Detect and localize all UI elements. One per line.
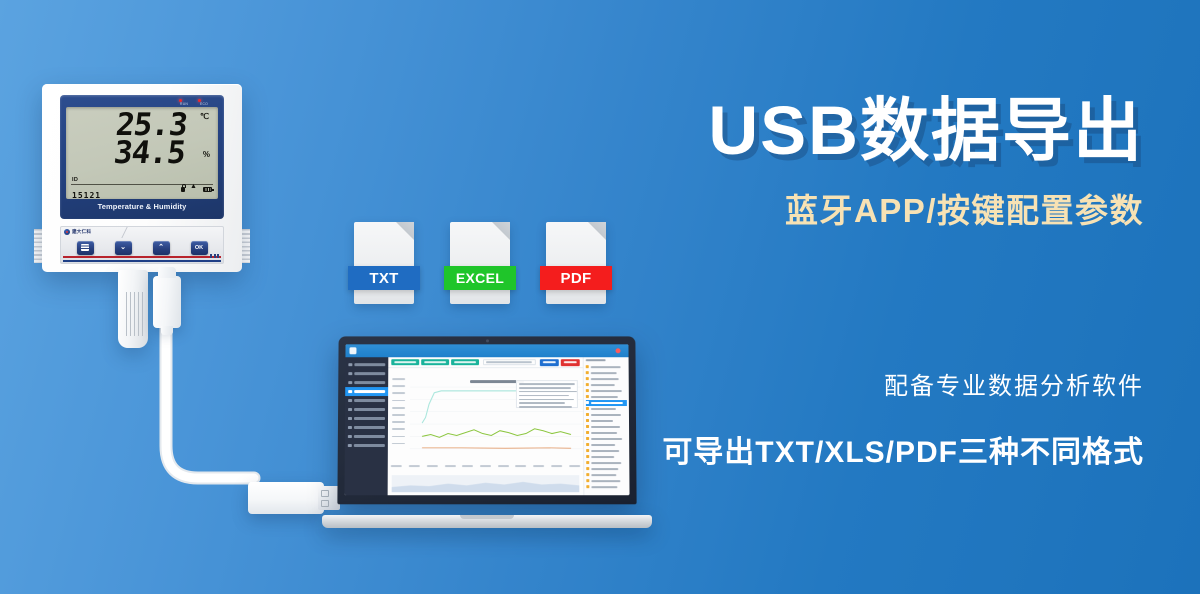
file-page [546, 222, 606, 304]
series-green [422, 429, 571, 438]
page-fold-icon [492, 222, 510, 240]
query-button[interactable] [540, 359, 559, 366]
sidebar-icon [348, 444, 352, 448]
folder-icon [586, 467, 589, 470]
chart-tooltip [516, 380, 578, 408]
device-brand: 建大仁科 [64, 229, 91, 235]
chart-range-slider[interactable] [392, 475, 580, 492]
lcd-status-bar: 15121 [72, 185, 213, 198]
dashboard-main [388, 357, 584, 495]
folder-icon [586, 371, 589, 374]
export-format-icons: TXT EXCEL PDF [348, 222, 612, 304]
down-button[interactable]: ⌄ [115, 241, 132, 255]
sidebar-item[interactable] [345, 441, 388, 450]
sidebar-icon [348, 435, 352, 439]
humidity-value: 34.5 [112, 138, 186, 169]
device-body: RUN ECO 25.3 ℃ 34.5 % ID 15121 [42, 84, 242, 272]
lcd-screen: 25.3 ℃ 34.5 % ID 15121 [66, 107, 218, 199]
device-control-panel: 建大仁科 ⌄ ⌃ OK [60, 226, 224, 264]
tree-node[interactable] [586, 484, 627, 490]
device-tree-panel [583, 357, 630, 495]
notification-badge [616, 348, 621, 353]
folder-icon [586, 479, 589, 482]
panel-marking [210, 254, 219, 258]
date-range-input[interactable] [483, 359, 536, 365]
laptop-mockup [322, 336, 652, 528]
chart-area [388, 368, 583, 463]
page-title: USB数据导出 [624, 96, 1144, 166]
sidebar-item[interactable] [345, 396, 388, 405]
dashboard-screen [344, 344, 629, 495]
folder-icon [586, 437, 589, 440]
feature-line-2: 可导出TXT/XLS/PDF三种不同格式 [624, 427, 1144, 471]
sidebar-item[interactable] [345, 423, 388, 432]
ok-button[interactable]: OK [191, 241, 208, 255]
txt-file-icon[interactable]: TXT [348, 222, 420, 304]
app-logo-icon [349, 347, 356, 354]
folder-icon [586, 473, 589, 476]
sidebar-item[interactable] [345, 414, 388, 423]
folder-icon [586, 455, 589, 458]
sidebar-icon [348, 426, 352, 430]
panel-accent-line [104, 227, 127, 238]
chevron-down-icon: ⌄ [119, 244, 127, 251]
temperature-unit: ℃ [200, 112, 209, 121]
folder-icon [586, 431, 589, 434]
laptop-base [322, 515, 652, 528]
humidity-row: 34.5 % [71, 140, 213, 171]
sidebar-item[interactable] [345, 378, 388, 387]
file-page [450, 222, 510, 304]
folder-icon [586, 413, 589, 416]
tree-header [586, 359, 627, 361]
usb-a-connector [248, 482, 324, 514]
lcd-bezel: RUN ECO 25.3 ℃ 34.5 % ID 15121 [60, 95, 224, 219]
wifi-icon [190, 186, 198, 192]
menu-icon [81, 244, 89, 251]
brand-name: 建大仁科 [72, 229, 91, 235]
device-caption: Temperature & Humidity [66, 199, 218, 211]
folder-icon [586, 443, 589, 446]
page-fold-icon [396, 222, 414, 240]
txt-label: TXT [348, 266, 420, 290]
app-header-actions[interactable] [608, 348, 625, 353]
app-title [359, 348, 360, 353]
sidebar-icon [348, 363, 352, 366]
file-page [354, 222, 414, 304]
app-header [345, 344, 628, 357]
excel-label: EXCEL [444, 266, 516, 290]
filter-tag[interactable] [421, 359, 449, 365]
laptop-screen-lid [337, 336, 636, 504]
id-value: 15121 [72, 191, 101, 200]
pdf-file-icon[interactable]: PDF [540, 222, 612, 304]
lock-icon [181, 187, 185, 192]
usb-c-connector [153, 276, 181, 328]
subtitle: 蓝牙APP/按键配置参数 [624, 184, 1144, 232]
folder-icon [586, 389, 589, 392]
folder-icon [586, 407, 589, 410]
folder-icon [586, 383, 589, 386]
laptop-base-notch [460, 515, 514, 519]
filter-tag[interactable] [451, 359, 479, 365]
sidebar-item[interactable] [345, 360, 388, 369]
folder-icon [586, 449, 589, 452]
up-button[interactable]: ⌃ [153, 241, 170, 255]
headline-block: USB数据导出 蓝牙APP/按键配置参数 [624, 96, 1144, 232]
x-axis-labels [388, 463, 584, 475]
app-sidebar [344, 357, 388, 495]
led-indicator-row: RUN ECO [66, 98, 218, 107]
app-body [344, 357, 629, 495]
feature-copy-block: 配备专业数据分析软件 可导出TXT/XLS/PDF三种不同格式 [624, 366, 1144, 471]
sidebar-item[interactable] [345, 432, 388, 441]
folder-icon [586, 395, 589, 398]
sidebar-item[interactable] [345, 405, 388, 414]
sidebar-icon [348, 381, 352, 384]
folder-icon [586, 377, 589, 380]
id-label: ID [72, 177, 78, 183]
brand-logo-icon [64, 229, 70, 235]
device-button-row: ⌄ ⌃ OK [61, 238, 223, 257]
eco-led-label: ECO [200, 102, 208, 106]
run-led-label: RUN [180, 102, 188, 106]
folder-icon [586, 425, 589, 428]
page-fold-icon [588, 222, 606, 240]
dashboard-toolbar [388, 357, 582, 368]
folder-icon [586, 365, 589, 368]
feature-line-1: 配备专业数据分析软件 [624, 366, 1144, 401]
folder-icon [586, 461, 589, 464]
panel-stripe-blue [63, 260, 221, 262]
export-button[interactable] [561, 359, 580, 366]
humidity-unit: % [203, 150, 210, 159]
folder-icon [586, 485, 589, 488]
battery-icon [203, 187, 212, 192]
excel-file-icon[interactable]: EXCEL [444, 222, 516, 304]
chevron-up-icon: ⌃ [157, 244, 165, 251]
sidebar-item[interactable] [345, 369, 388, 378]
sidebar-icon [348, 408, 352, 411]
y-axis-labels [388, 368, 410, 463]
pdf-label: PDF [540, 266, 612, 290]
sidebar-icon [348, 390, 352, 393]
lcd-status-icons [181, 186, 212, 192]
sidebar-icon [348, 399, 352, 402]
sidebar-icon [348, 417, 352, 420]
sidebar-icon [348, 372, 352, 375]
line-chart [410, 368, 583, 463]
sidebar-item-active[interactable] [345, 387, 388, 396]
webcam-icon [486, 339, 489, 342]
menu-button[interactable] [77, 241, 94, 255]
filter-tag[interactable] [391, 359, 419, 365]
folder-icon [586, 419, 589, 422]
panel-stripe-red [63, 256, 221, 258]
folder-icon [586, 401, 589, 404]
banner-canvas: RUN ECO 25.3 ℃ 34.5 % ID 15121 [0, 0, 1200, 594]
